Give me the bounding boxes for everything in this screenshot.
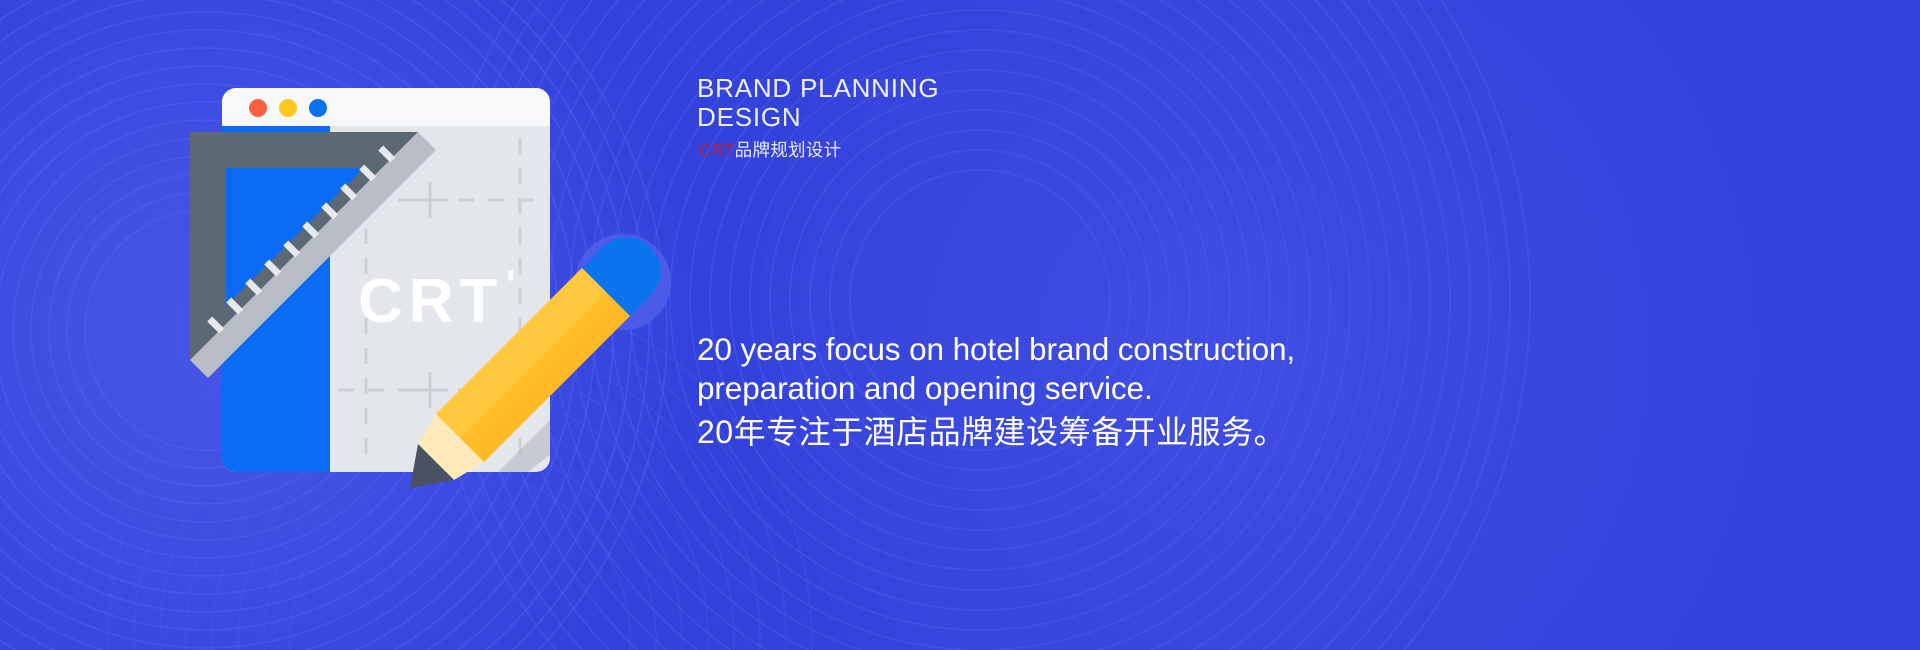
eyebrow-heading: BRAND PLANNING DESIGN — [697, 74, 1217, 132]
close-dot-icon[interactable] — [249, 99, 267, 117]
eyebrow-subheading-text: 品牌规划设计 — [735, 140, 842, 160]
minimize-dot-icon[interactable] — [279, 99, 297, 117]
blueprint-watermark-mark: ' — [506, 263, 516, 307]
tagline-chinese: 20年专注于酒店品牌建设筹备开业服务。 — [697, 412, 1286, 452]
window-titlebar — [222, 88, 550, 126]
eyebrow-subheading: CRT品牌规划设计 — [699, 139, 841, 161]
promo-banner: CRT ' — [0, 0, 1920, 650]
brand-abbreviation: CRT — [699, 140, 735, 160]
banner-copy: BRAND PLANNING DESIGN CRT品牌规划设计 20 years… — [697, 0, 1597, 650]
brand-design-illustration: CRT ' — [168, 60, 708, 580]
maximize-dot-icon[interactable] — [309, 99, 327, 117]
blueprint-watermark: CRT — [358, 267, 503, 336]
tagline-english: 20 years focus on hotel brand constructi… — [697, 330, 1397, 408]
